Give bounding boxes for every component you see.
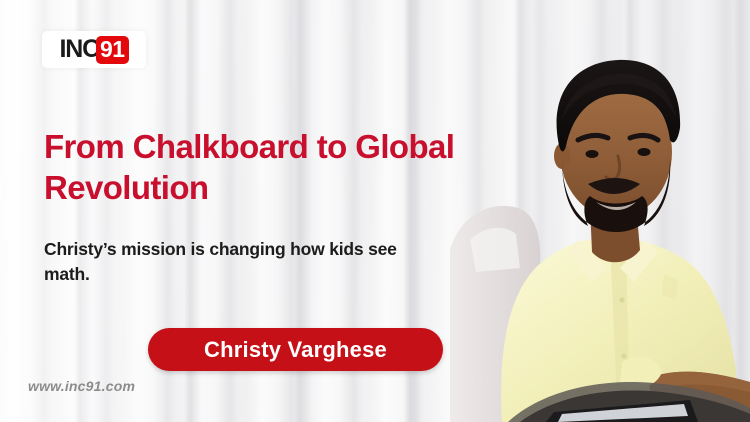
- speaker-name-badge[interactable]: Christy Varghese: [148, 328, 443, 371]
- logo-badge-91: 91: [96, 36, 129, 64]
- page-title: From Chalkboard to Global Revolution: [44, 126, 474, 209]
- logo-inner: INC 91: [59, 36, 128, 64]
- promo-banner: INC 91 From Chalkboard to Global Revolut…: [0, 0, 750, 422]
- speaker-name-label: Christy Varghese: [204, 337, 387, 363]
- website-url[interactable]: www.inc91.com: [28, 378, 135, 394]
- inc91-logo[interactable]: INC 91: [42, 31, 146, 68]
- subtitle-text: Christy’s mission is changing how kids s…: [44, 237, 444, 287]
- portrait-photo: [450, 0, 750, 422]
- logo-text-inc: INC: [59, 37, 98, 62]
